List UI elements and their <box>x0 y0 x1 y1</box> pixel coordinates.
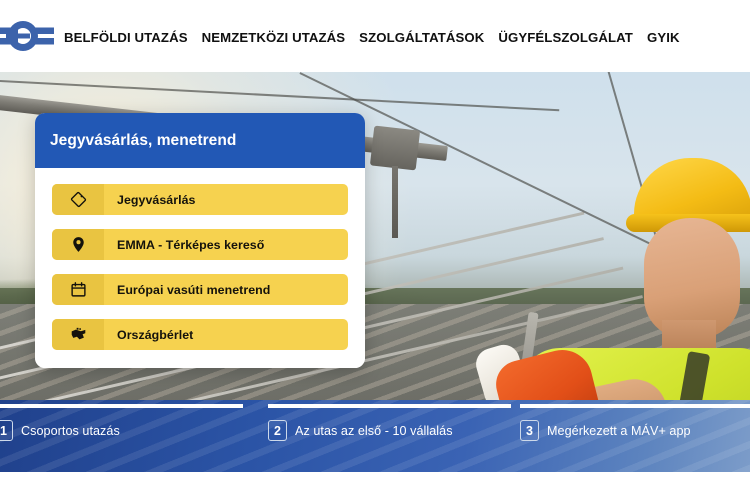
nav-item-gyik[interactable]: GYIK <box>647 30 680 46</box>
promo-item-2[interactable]: 2 Az utas az első - 10 vállalás <box>250 400 500 472</box>
ticket-tag-icon <box>52 184 104 215</box>
promo-row: 2 Az utas az első - 10 vállalás <box>268 420 453 441</box>
promo-item-3[interactable]: 3 Megérkezett a MÁV+ app <box>500 400 750 472</box>
nav-item-belfoldi-utazas[interactable]: BELFÖLDI UTAZÁS <box>64 30 188 46</box>
menu-button-label: EMMA - Térképes kereső <box>104 229 348 260</box>
nav-item-nemzetkozi-utazas[interactable]: NEMZETKÖZI UTAZÁS <box>202 30 346 46</box>
booking-card-body: Jegyvásárlás EMMA - Térképes kereső <box>35 168 365 368</box>
mav-logo-icon[interactable] <box>0 19 54 53</box>
promo-number-badge: 3 <box>520 420 539 441</box>
promo-item-1[interactable]: 1 Csoportos utazás <box>0 400 250 472</box>
booking-card: Jegyvásárlás, menetrend Jegyvásárlás <box>35 113 365 368</box>
promo-number-badge: 2 <box>268 420 287 441</box>
page-footer-whitespace <box>0 472 750 500</box>
promo-label: Megérkezett a MÁV+ app <box>547 424 691 438</box>
main-nav-items: BELFÖLDI UTAZÁS NEMZETKÖZI UTAZÁS SZOLGÁ… <box>64 30 680 46</box>
catenary-bracket <box>370 126 420 171</box>
promo-label: Az utas az első - 10 vállalás <box>295 424 453 438</box>
menu-button-label: Jegyvásárlás <box>104 184 348 215</box>
promo-label: Csoportos utazás <box>21 424 120 438</box>
menu-button-jegyvasarlas[interactable]: Jegyvásárlás <box>52 184 348 215</box>
promo-items: 1 Csoportos utazás 2 Az utas az első - 1… <box>0 400 750 472</box>
promo-strip: 1 Csoportos utazás 2 Az utas az első - 1… <box>0 400 750 472</box>
promo-divider <box>0 404 243 408</box>
booking-card-header: Jegyvásárlás, menetrend <box>35 113 365 168</box>
page-root: BELFÖLDI UTAZÁS NEMZETKÖZI UTAZÁS SZOLGÁ… <box>0 0 750 500</box>
menu-button-label: Országbérlet <box>104 319 348 350</box>
top-navigation-bar: BELFÖLDI UTAZÁS NEMZETKÖZI UTAZÁS SZOLGÁ… <box>0 0 750 72</box>
map-pin-icon <box>52 229 104 260</box>
promo-number-badge: 1 <box>0 420 13 441</box>
menu-button-label: Európai vasúti menetrend <box>104 274 348 305</box>
promo-divider <box>520 404 750 408</box>
menu-button-orszagberlet[interactable]: Országbérlet <box>52 319 348 350</box>
promo-divider <box>268 404 511 408</box>
nav-item-ugyfelszolgalat[interactable]: ÜGYFÉLSZOLGÁLAT <box>498 30 633 46</box>
menu-button-emma-terkepes-kereso[interactable]: EMMA - Térképes kereső <box>52 229 348 260</box>
promo-row: 3 Megérkezett a MÁV+ app <box>520 420 691 441</box>
nav-item-szolgaltatasok[interactable]: SZOLGÁLTATÁSOK <box>359 30 484 46</box>
booking-card-title: Jegyvásárlás, menetrend <box>50 132 236 150</box>
promo-row: 1 Csoportos utazás <box>0 420 120 441</box>
country-map-icon <box>52 319 104 350</box>
menu-button-europai-vasuti-menetrend[interactable]: Európai vasúti menetrend <box>52 274 348 305</box>
calendar-icon <box>52 274 104 305</box>
catenary-dropper <box>392 166 398 238</box>
